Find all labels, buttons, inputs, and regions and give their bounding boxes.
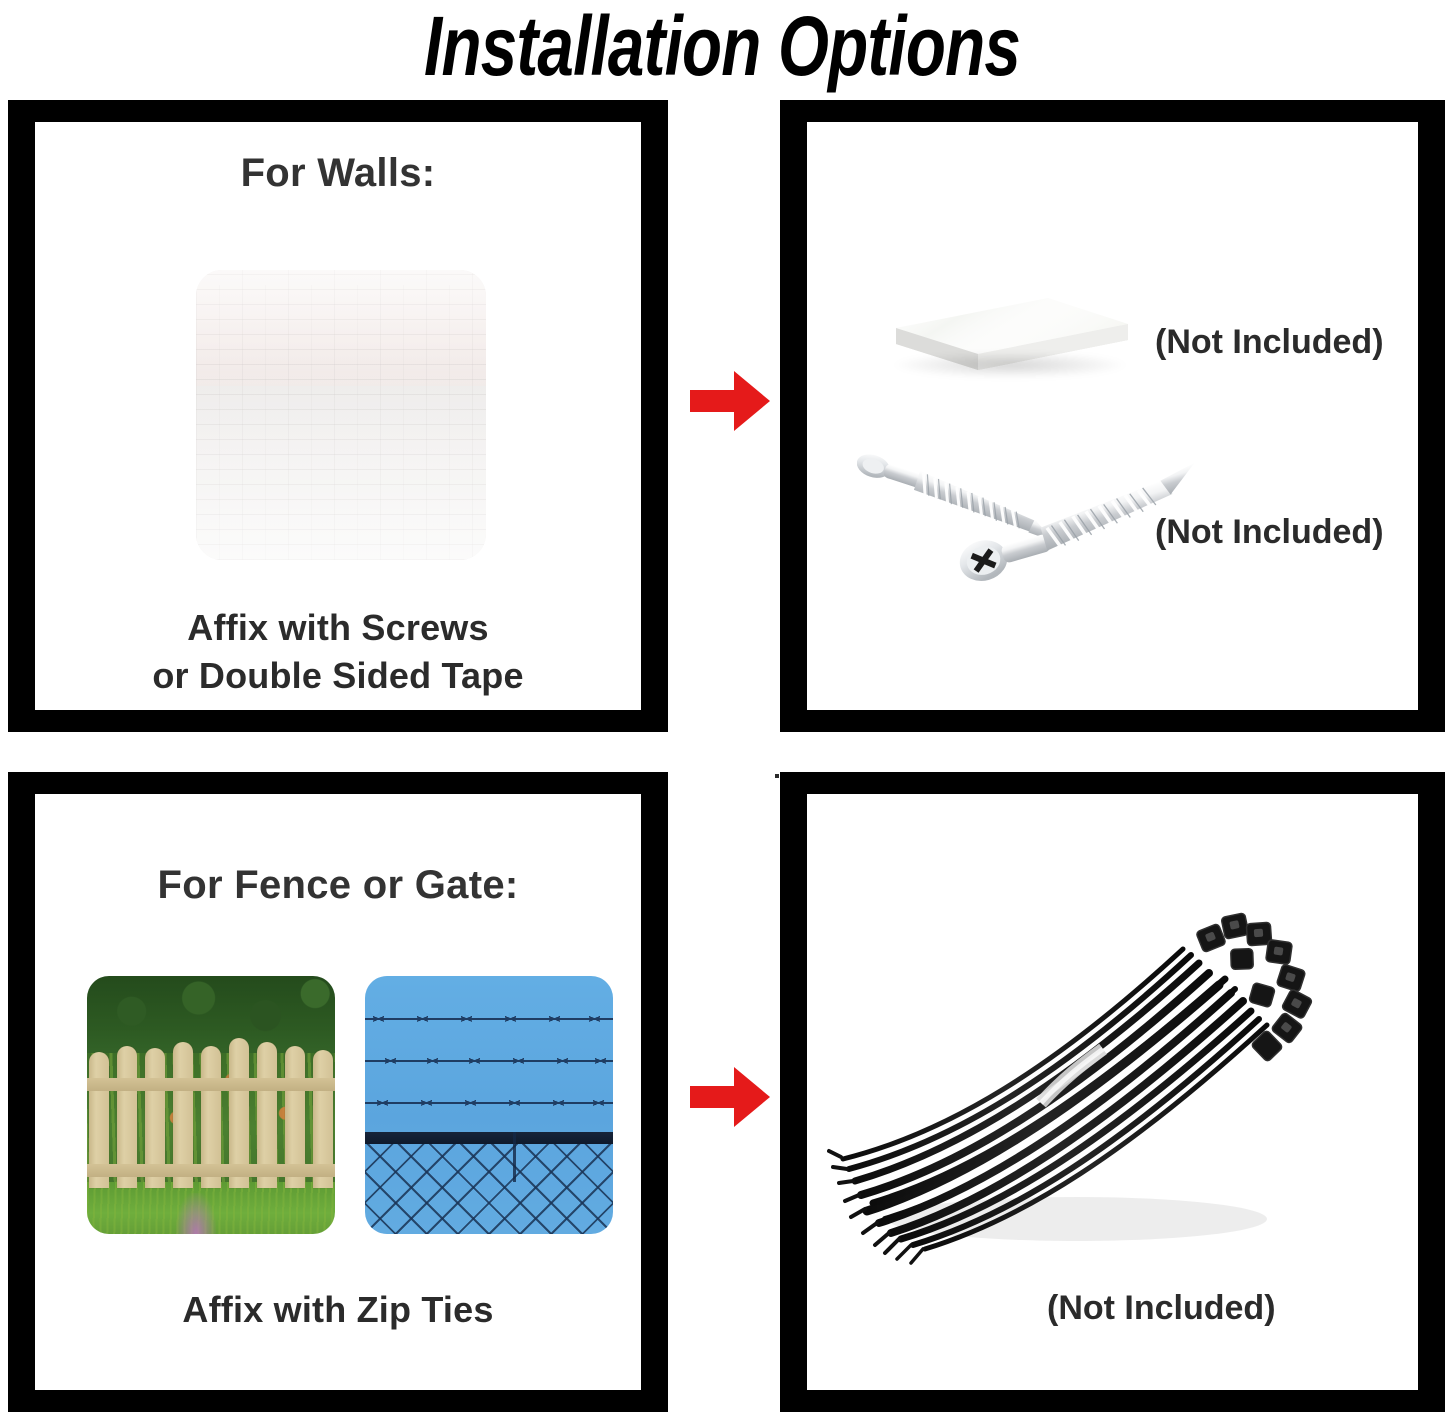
for-fence-or-gate-heading: For Fence or Gate:: [35, 862, 641, 908]
chain-link-barbed-wire-fence-photo: [365, 976, 613, 1234]
panel-zip-ties-content: (Not Included): [807, 794, 1418, 1390]
panel-wall-hardware-content: (Not Included): [807, 122, 1418, 710]
zip-tie-bundle-icon: [827, 889, 1387, 1269]
double-sided-tape-stack: [882, 240, 1142, 400]
screws-not-included-label: (Not Included): [1155, 512, 1384, 552]
page-title-bar: Installation Options: [0, 0, 1445, 92]
page-title: Installation Options: [425, 4, 1021, 88]
for-walls-caption-line-2: or Double Sided Tape: [35, 652, 641, 700]
panel-for-fence-or-gate-content: For Fence or Gate:: [35, 794, 641, 1390]
panel-for-fence-or-gate: For Fence or Gate:: [8, 772, 668, 1412]
wooden-picket-fence-photo: [87, 976, 335, 1234]
for-walls-caption-line-1: Affix with Screws: [35, 604, 641, 652]
red-right-arrow-icon: [688, 368, 772, 434]
panel-wall-hardware: (Not Included): [780, 100, 1445, 732]
for-fence-or-gate-caption: Affix with Zip Ties: [35, 1286, 641, 1334]
tape-not-included-label: (Not Included): [1155, 322, 1384, 362]
red-right-arrow-icon: [688, 1064, 772, 1130]
black-zip-tie-bundle: [827, 889, 1387, 1269]
scan-artifact-dot: [775, 774, 779, 778]
red-right-arrow-top: [688, 368, 772, 434]
panel-for-walls: For Walls: Affix with Screws or Double S…: [8, 100, 668, 732]
red-right-arrow-bottom: [688, 1064, 772, 1130]
panel-for-walls-content: For Walls: Affix with Screws or Double S…: [35, 122, 641, 710]
white-brick-wall-swatch: [196, 270, 486, 560]
panel-zip-ties: (Not Included): [780, 772, 1445, 1412]
for-walls-heading: For Walls:: [35, 150, 641, 196]
zip-ties-not-included-label: (Not Included): [1047, 1288, 1276, 1328]
